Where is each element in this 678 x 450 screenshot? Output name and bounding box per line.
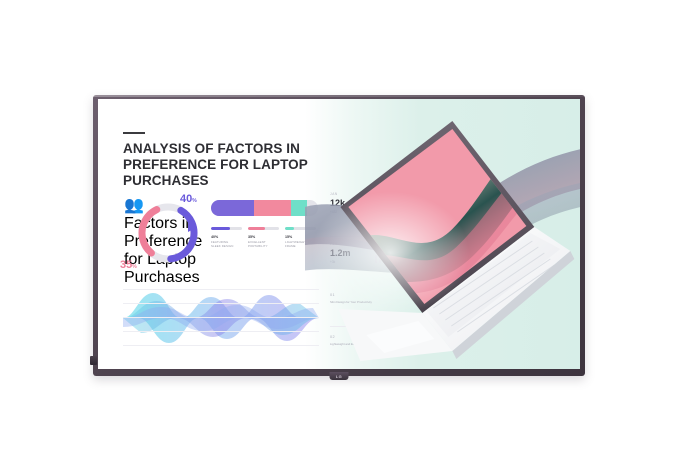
product-photo-scene: ANALYSIS OF FACTORS IN PREFERENCE FOR LA…	[0, 0, 678, 450]
donut-chart-svg	[136, 201, 200, 265]
waveform-svg	[123, 287, 319, 349]
lg-monitor: ANALYSIS OF FACTORS IN PREFERENCE FOR LA…	[93, 95, 585, 376]
grid-line	[123, 331, 319, 332]
stacked-bar-track	[211, 200, 318, 216]
legend-track	[248, 227, 279, 230]
donut-secondary-value: 35	[120, 259, 132, 271]
stacked-bar-segment-2	[254, 200, 291, 216]
grid-line	[123, 317, 319, 318]
stacked-bar-chart: 40% FEATURING SLEEK DESIGN 35% EXCELLENT	[211, 200, 318, 249]
legend-caption: FEATURING SLEEK DESIGN	[211, 241, 242, 249]
legend-percent: 40%	[211, 235, 242, 239]
title-accent-rule	[123, 132, 145, 134]
monitor-port	[90, 356, 97, 365]
lg-logo: LG	[336, 374, 342, 379]
donut-primary-value: 40	[180, 193, 192, 205]
grid-line	[123, 345, 319, 346]
donut-primary-unit: %	[192, 198, 196, 204]
stacked-bar-legend: 40% FEATURING SLEEK DESIGN 35% EXCELLENT	[211, 227, 318, 249]
donut-label-secondary: 35%	[120, 259, 137, 271]
grid-line	[123, 303, 319, 304]
legend-item: 40% FEATURING SLEEK DESIGN	[211, 227, 242, 249]
stacked-bar-segment-1	[211, 200, 254, 216]
donut-label-primary: 40%	[180, 193, 197, 205]
laptop-product-photo	[305, 99, 580, 369]
donut-secondary-unit: %	[132, 264, 136, 270]
legend-caption-line2: PORTABILITY	[248, 244, 268, 248]
grid-line	[123, 289, 319, 290]
waveform-chart	[123, 287, 319, 349]
photo-glow	[311, 191, 470, 315]
legend-caption-line2: SLEEK DESIGN	[211, 244, 233, 248]
legend-item: 35% EXCELLENT PORTABILITY	[248, 227, 279, 249]
legend-caption-line2: FRAME	[285, 244, 296, 248]
legend-caption: EXCELLENT PORTABILITY	[248, 241, 279, 249]
donut-chart: 👥 Factors in Preference for Laptop Purch…	[124, 195, 212, 279]
monitor-screen: ANALYSIS OF FACTORS IN PREFERENCE FOR LA…	[98, 99, 580, 369]
legend-percent: 35%	[248, 235, 279, 239]
legend-track	[211, 227, 242, 230]
